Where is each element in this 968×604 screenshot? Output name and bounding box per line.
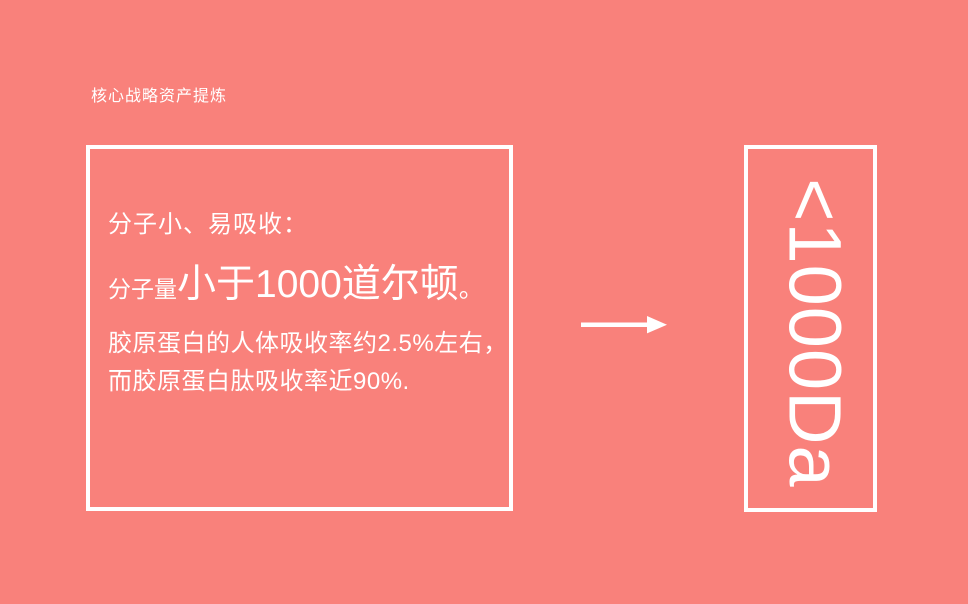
molecular-weight-value: <1000Da — [778, 178, 852, 487]
slide-canvas: 核心战略资产提炼 分子小、易吸收： 分子量小于1000道尔顿。 胶原蛋白的人体吸… — [0, 0, 968, 604]
body-line: 胶原蛋白的人体吸收率约2.5%左右， — [108, 325, 518, 363]
headline-suffix: 。 — [459, 275, 484, 303]
arrow-right-icon — [581, 312, 667, 337]
page-title: 核心战略资产提炼 — [91, 86, 227, 108]
lead-text: 分子小、易吸收： — [108, 205, 518, 245]
headline-text: 分子量小于1000道尔顿。 — [108, 253, 518, 309]
body-line: 而胶原蛋白肽吸收率近90%. — [108, 363, 518, 401]
headline-prefix: 分子量 — [108, 276, 177, 302]
left-info-content: 分子小、易吸收： 分子量小于1000道尔顿。 胶原蛋白的人体吸收率约2.5%左右… — [108, 205, 518, 401]
right-value-wrap: <1000Da — [748, 149, 881, 516]
headline-emphasis: 小于1000道尔顿 — [177, 263, 459, 306]
right-value-frame: <1000Da — [744, 145, 877, 512]
body-paragraph: 胶原蛋白的人体吸收率约2.5%左右， 而胶原蛋白肽吸收率近90%. — [108, 325, 518, 401]
